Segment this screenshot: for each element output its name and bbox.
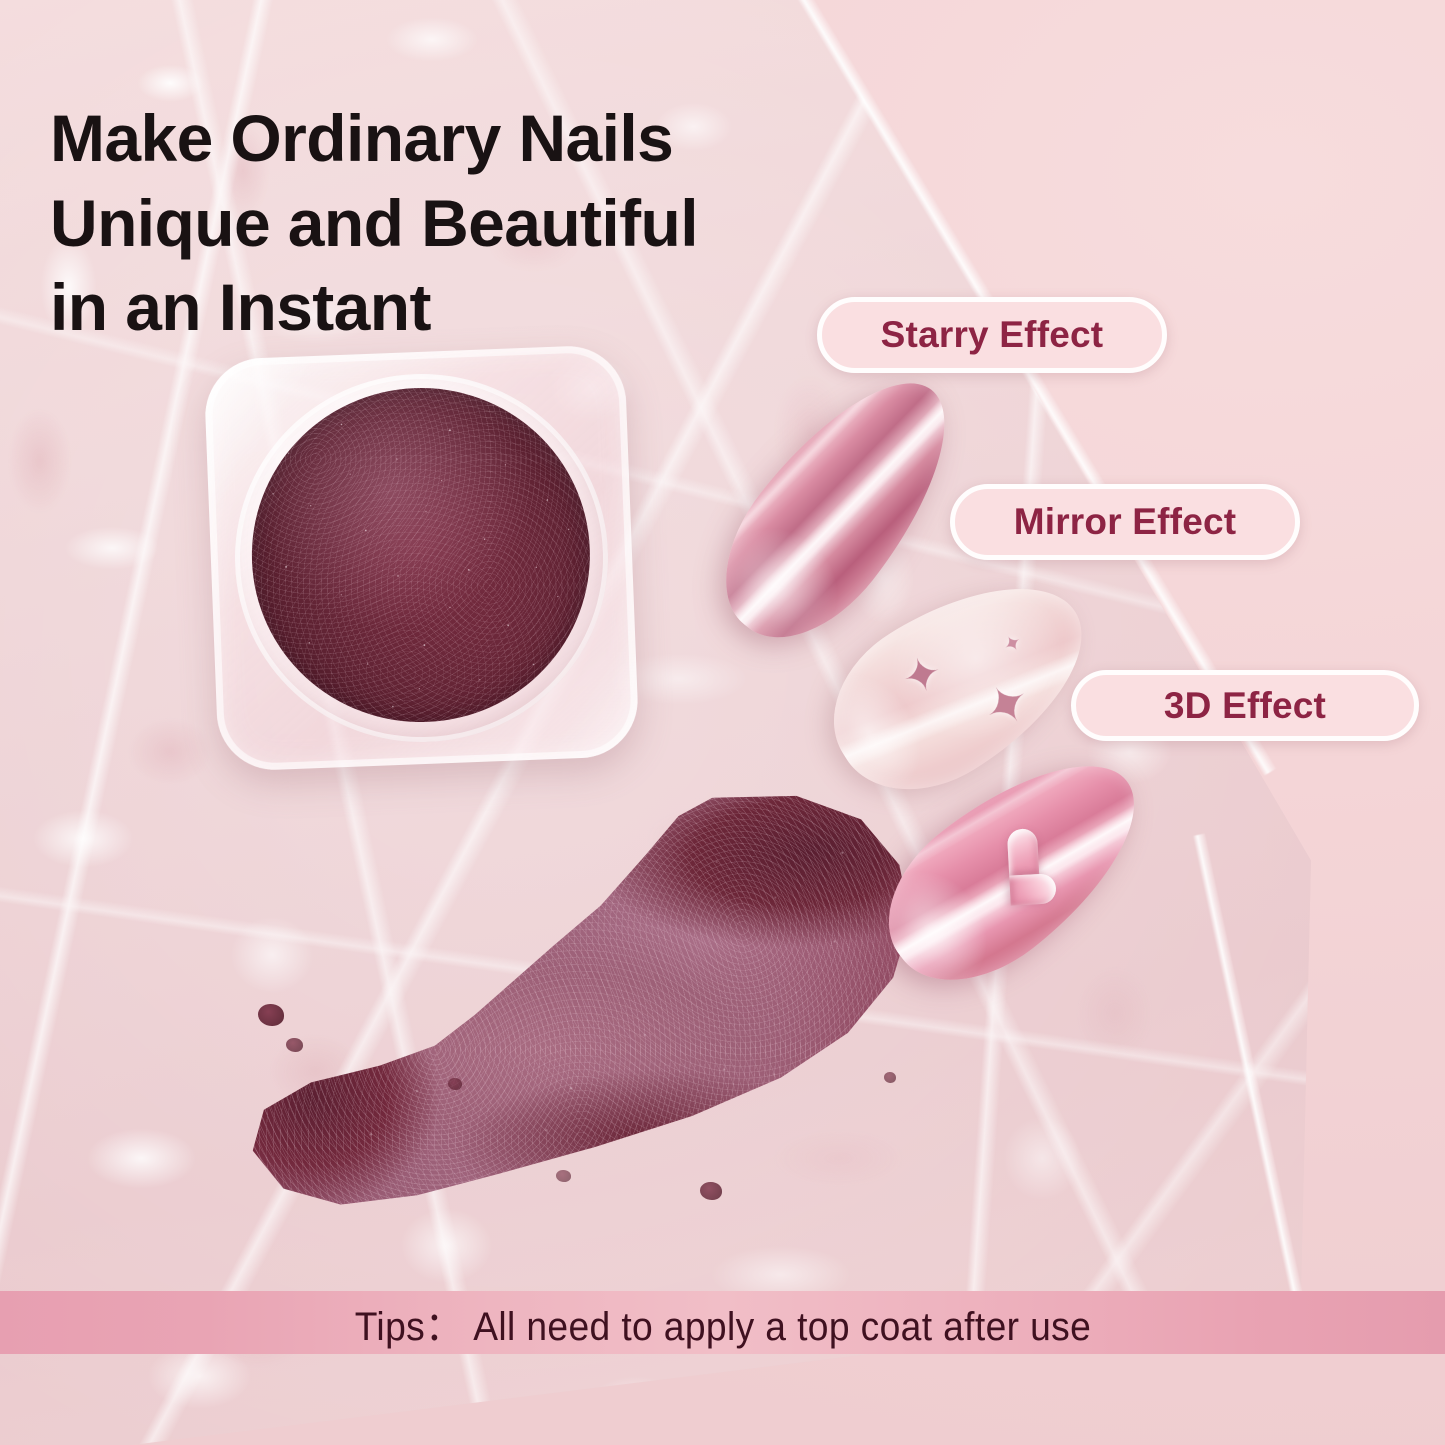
swatch-glitter-grain: [209, 776, 935, 1224]
effect-label-starry: Starry Effect: [817, 297, 1167, 373]
headline-line-1: Make Ordinary Nails: [50, 96, 890, 180]
powder-swatch-smear: [209, 776, 935, 1224]
glitter-powder-jar: [203, 344, 640, 772]
powder-fleck: [286, 1038, 303, 1052]
effect-label-mirror: Mirror Effect: [950, 484, 1300, 560]
headline-line-3: in an Instant: [50, 265, 890, 349]
powder-fleck: [448, 1078, 462, 1090]
page-headline: Make Ordinary Nails Unique and Beautiful…: [50, 96, 890, 349]
product-marketing-poster: Make Ordinary Nails Unique and Beautiful…: [0, 0, 1445, 1445]
headline-line-2: Unique and Beautiful: [50, 181, 890, 265]
star-glitter-icon: ✦: [893, 650, 948, 700]
powder-fleck: [884, 1072, 896, 1083]
powder-fleck: [556, 1170, 571, 1182]
tips-text-row: Tips： All need to apply a top coat after…: [354, 1294, 1091, 1352]
effect-label-text: Mirror Effect: [1014, 501, 1237, 543]
effect-label-text: Starry Effect: [881, 314, 1104, 356]
star-glitter-icon: ✦: [997, 630, 1025, 657]
powder-fleck: [258, 1004, 284, 1026]
tips-banner: Tips： All need to apply a top coat after…: [0, 1291, 1445, 1354]
effect-label-text: 3D Effect: [1164, 685, 1326, 727]
heart-3d-icon: [983, 822, 1062, 901]
effect-label-3d: 3D Effect: [1071, 670, 1419, 741]
tips-message: All need to apply a top coat after use: [473, 1305, 1091, 1349]
powder-fleck: [700, 1182, 722, 1200]
tips-label: Tips：: [354, 1305, 462, 1349]
